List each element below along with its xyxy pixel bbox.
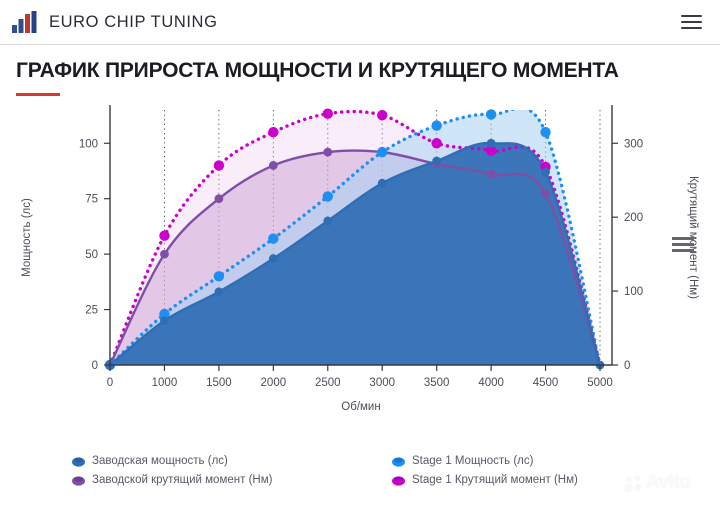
y-tick-label-right: 100: [624, 286, 643, 298]
data-point[interactable]: [268, 234, 278, 244]
y-tick-label-right: 0: [624, 360, 630, 372]
data-point[interactable]: [214, 160, 224, 170]
x-tick-label: 2000: [261, 377, 287, 389]
legend-marker-icon: [72, 456, 85, 467]
data-point[interactable]: [431, 120, 441, 130]
data-point[interactable]: [432, 157, 441, 166]
chart-context-menu-icon[interactable]: [672, 237, 694, 252]
y-tick-label-right: 300: [624, 138, 643, 150]
x-tick-label: 1000: [152, 377, 178, 389]
x-tick-label: 3500: [424, 377, 450, 389]
data-point[interactable]: [431, 138, 441, 148]
legend-label: Заводская мощность (лс): [92, 455, 228, 467]
legend-item-stage1-power[interactable]: Stage 1 Мощность (лс): [392, 455, 692, 467]
x-tick-label: 0: [107, 377, 113, 389]
x-tick-label: 3000: [369, 377, 395, 389]
legend-item-stock-torque[interactable]: Заводской крутящий момент (Нм): [72, 474, 392, 486]
y-axis-title-left: Мощность (лс): [21, 198, 33, 277]
y-tick-label-left: 0: [92, 360, 98, 372]
legend-item-stock-power[interactable]: Заводская мощность (лс): [72, 455, 392, 467]
legend-item-stage1-torque[interactable]: Stage 1 Крутящий момент (Нм): [392, 474, 692, 486]
hamburger-menu-icon[interactable]: [677, 11, 706, 33]
legend-label: Stage 1 Крутящий момент (Нм): [412, 474, 578, 486]
bar-chart-logo-icon: [12, 11, 40, 33]
data-point[interactable]: [541, 168, 550, 177]
data-point[interactable]: [269, 161, 278, 170]
data-point[interactable]: [487, 170, 496, 179]
data-point[interactable]: [160, 316, 169, 325]
x-tick-label: 1500: [206, 377, 232, 389]
data-point[interactable]: [214, 194, 223, 203]
x-tick-label: 5000: [587, 377, 613, 389]
x-tick-label: 4500: [533, 377, 559, 389]
y-tick-label-left: 25: [85, 305, 98, 317]
legend-label: Заводской крутящий момент (Нм): [92, 474, 272, 486]
data-point[interactable]: [269, 254, 278, 263]
site-header: EURO CHIP TUNING: [0, 0, 720, 45]
page-title: ГРАФИК ПРИРОСТА МОЩНОСТИ И КРУТЯЩЕГО МОМ…: [16, 59, 704, 82]
power-torque-chart: 0100015002000250030003500400045005000Об/…: [0, 100, 720, 480]
data-point[interactable]: [323, 109, 333, 119]
x-axis-title: Об/мин: [341, 401, 380, 413]
data-point[interactable]: [323, 217, 332, 226]
chart-areas: [110, 108, 600, 365]
data-point[interactable]: [214, 288, 223, 297]
y-tick-label-left: 75: [85, 194, 98, 206]
chart-legend: Заводская мощность (лс) Stage 1 Мощность…: [0, 455, 720, 486]
data-point[interactable]: [541, 189, 550, 198]
x-tick-label: 4000: [478, 377, 504, 389]
data-point[interactable]: [323, 148, 332, 157]
data-point[interactable]: [378, 179, 387, 188]
data-point[interactable]: [377, 110, 387, 120]
y-tick-label-left: 50: [85, 249, 98, 261]
brand[interactable]: EURO CHIP TUNING: [12, 11, 218, 33]
data-point[interactable]: [214, 271, 224, 281]
legend-marker-icon: [72, 475, 85, 486]
title-accent-rule: [16, 93, 60, 96]
data-point[interactable]: [160, 250, 169, 259]
chart-container: 0100015002000250030003500400045005000Об/…: [0, 100, 720, 480]
data-point[interactable]: [540, 127, 550, 137]
brand-name: EURO CHIP TUNING: [49, 13, 218, 32]
data-point[interactable]: [487, 139, 496, 148]
y-tick-label-right: 200: [624, 212, 643, 224]
data-point[interactable]: [377, 147, 387, 157]
legend-label: Stage 1 Мощность (лс): [412, 455, 533, 467]
data-point[interactable]: [268, 127, 278, 137]
data-point[interactable]: [159, 231, 169, 241]
data-point[interactable]: [486, 109, 496, 119]
data-point[interactable]: [323, 191, 333, 201]
x-tick-label: 2500: [315, 377, 341, 389]
legend-marker-icon: [392, 475, 405, 486]
title-block: ГРАФИК ПРИРОСТА МОЩНОСТИ И КРУТЯЩЕГО МОМ…: [0, 45, 720, 96]
legend-marker-icon: [392, 456, 405, 467]
y-tick-label-left: 100: [79, 138, 98, 150]
